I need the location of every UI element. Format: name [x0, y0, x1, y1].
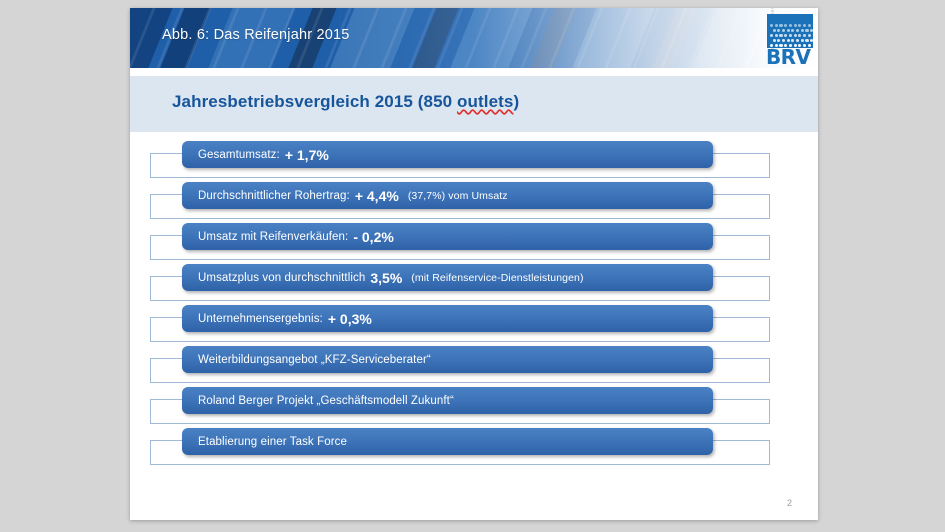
page-title-misspelled-word: outlets: [457, 92, 513, 111]
row-label: Weiterbildungsangebot „KFZ-Serviceberate…: [198, 354, 431, 366]
row-value: 3,5%: [370, 270, 402, 286]
row-text: Umsatz mit Reifenverkäufen:- 0,2%: [198, 223, 394, 250]
brv-logo[interactable]: center of competence BRV: [753, 12, 815, 68]
slide-header-banner: Abb. 6: Das Reifenjahr 2015 center of co…: [130, 8, 818, 68]
logo-checker-box: [767, 14, 813, 48]
row-text: Gesamtumsatz:+ 1,7%: [198, 141, 329, 168]
row-value: + 4,4%: [355, 188, 399, 204]
row-label: Gesamtumsatz:: [198, 149, 280, 161]
row-blue-bar[interactable]: Durchschnittlicher Rohertrag:+ 4,4%(37,7…: [182, 182, 713, 209]
row-text: Weiterbildungsangebot „KFZ-Serviceberate…: [198, 346, 431, 373]
row-label: Roland Berger Projekt „Geschäftsmodell Z…: [198, 395, 454, 407]
row-blue-bar[interactable]: Gesamtumsatz:+ 1,7%: [182, 141, 713, 168]
row-label: Umsatz mit Reifenverkäufen:: [198, 231, 348, 243]
slide-title-band: Jahresbetriebsvergleich 2015 (850 outlet…: [130, 76, 818, 132]
page-title: Jahresbetriebsvergleich 2015 (850 outlet…: [172, 92, 519, 112]
row-text: Durchschnittlicher Rohertrag:+ 4,4%(37,7…: [198, 182, 508, 209]
presentation-slide: Abb. 6: Das Reifenjahr 2015 center of co…: [130, 8, 818, 520]
row-label: Unternehmensergebnis:: [198, 313, 323, 325]
row-label: Umsatzplus von durchschnittlich: [198, 272, 365, 284]
row-blue-bar[interactable]: Weiterbildungsangebot „KFZ-Serviceberate…: [182, 346, 713, 373]
bullet-bar-row[interactable]: Weiterbildungsangebot „KFZ-Serviceberate…: [130, 345, 818, 386]
page-title-tail: ): [513, 92, 519, 111]
page-number: 2: [787, 498, 792, 508]
row-note: (mit Reifenservice-Dienstleistungen): [411, 272, 583, 284]
row-blue-bar[interactable]: Roland Berger Projekt „Geschäftsmodell Z…: [182, 387, 713, 414]
row-value: + 1,7%: [285, 147, 329, 163]
bullet-bar-row[interactable]: Roland Berger Projekt „Geschäftsmodell Z…: [130, 386, 818, 427]
bullet-bar-row[interactable]: Unternehmensergebnis:+ 0,3%: [130, 304, 818, 345]
bullet-bar-row[interactable]: Umsatzplus von durchschnittlich3,5%(mit …: [130, 263, 818, 304]
row-text: Etablierung einer Task Force: [198, 428, 347, 455]
row-text: Roland Berger Projekt „Geschäftsmodell Z…: [198, 387, 454, 414]
row-blue-bar[interactable]: Umsatzplus von durchschnittlich3,5%(mit …: [182, 264, 713, 291]
row-note: (37,7%) vom Umsatz: [408, 190, 508, 202]
row-blue-bar[interactable]: Unternehmensergebnis:+ 0,3%: [182, 305, 713, 332]
row-label: Durchschnittlicher Rohertrag:: [198, 190, 350, 202]
row-value: - 0,2%: [353, 229, 393, 245]
row-text: Unternehmensergebnis:+ 0,3%: [198, 305, 372, 332]
banner-title: Abb. 6: Das Reifenjahr 2015: [162, 27, 350, 43]
row-label: Etablierung einer Task Force: [198, 436, 347, 448]
page-title-main: Jahresbetriebsvergleich 2015 (850: [172, 92, 457, 111]
bullet-bar-row[interactable]: Etablierung einer Task Force: [130, 427, 818, 468]
bullet-bar-row[interactable]: Durchschnittlicher Rohertrag:+ 4,4%(37,7…: [130, 181, 818, 222]
row-blue-bar[interactable]: Etablierung einer Task Force: [182, 428, 713, 455]
bullet-bar-list: Gesamtumsatz:+ 1,7%Durchschnittlicher Ro…: [130, 140, 818, 468]
bullet-bar-row[interactable]: Umsatz mit Reifenverkäufen:- 0,2%: [130, 222, 818, 263]
row-value: + 0,3%: [328, 311, 372, 327]
logo-wordmark: BRV: [766, 45, 810, 68]
row-text: Umsatzplus von durchschnittlich3,5%(mit …: [198, 264, 584, 291]
bullet-bar-row[interactable]: Gesamtumsatz:+ 1,7%: [130, 140, 818, 181]
row-blue-bar[interactable]: Umsatz mit Reifenverkäufen:- 0,2%: [182, 223, 713, 250]
